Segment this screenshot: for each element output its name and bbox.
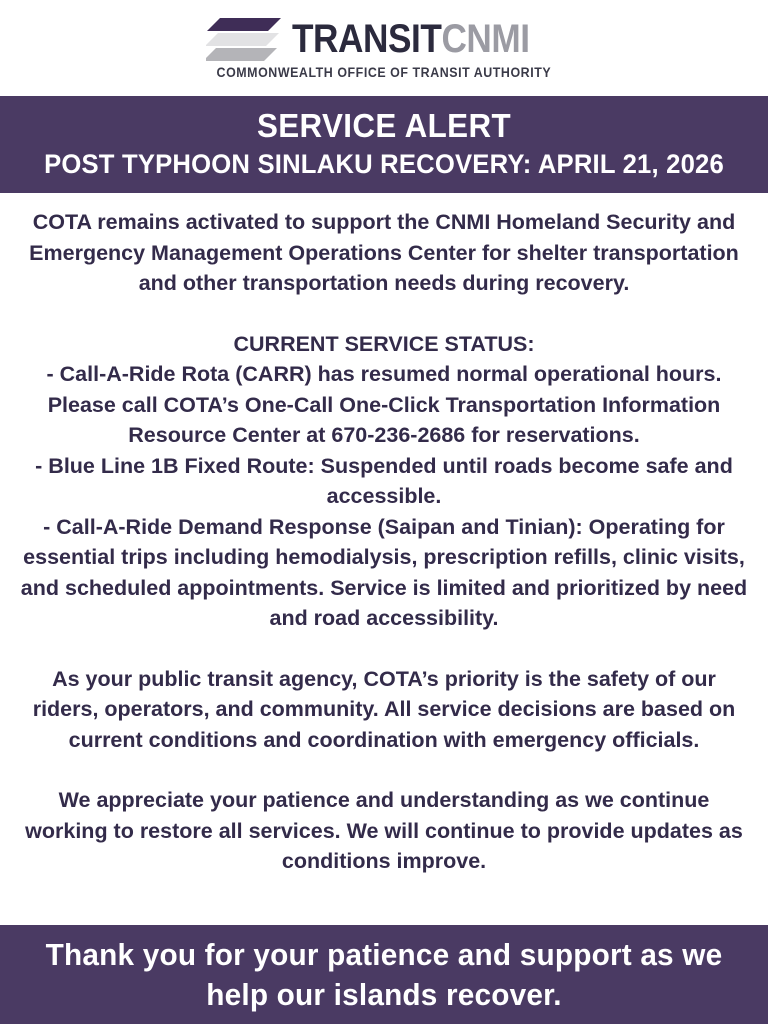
footer-message: Thank you for your patience and support …: [15, 935, 752, 1015]
logo-header: TRANSITCNMI COMMONWEALTH OFFICE OF TRANS…: [0, 0, 768, 96]
logo-wordmark-cnmi: CNMI: [441, 17, 529, 61]
stacked-parallelograms-icon: [206, 16, 282, 62]
body-content: COTA remains activated to support the CN…: [0, 193, 768, 925]
intro-paragraph: COTA remains activated to support the CN…: [18, 207, 750, 299]
safety-paragraph: As your public transit agency, COTA’s pr…: [18, 664, 750, 756]
logo-lockup: TRANSITCNMI COMMONWEALTH OFFICE OF TRANS…: [202, 16, 566, 80]
status-heading: CURRENT SERVICE STATUS:: [18, 329, 750, 360]
status-item-blue-line: - Blue Line 1B Fixed Route: Suspended un…: [18, 451, 750, 512]
closing-paragraph: We appreciate your patience and understa…: [18, 785, 750, 877]
logo-wordmark: TRANSITCNMI: [292, 19, 530, 59]
alert-band: SERVICE ALERT POST TYPHOON SINLAKU RECOV…: [0, 96, 768, 193]
status-item-carr: - Call-A-Ride Rota (CARR) has resumed no…: [18, 359, 750, 451]
logo-tagline: COMMONWEALTH OFFICE OF TRANSIT AUTHORITY: [217, 65, 552, 80]
alert-subtitle: POST TYPHOON SINLAKU RECOVERY: APRIL 21,…: [19, 146, 749, 182]
footer-band: Thank you for your patience and support …: [0, 925, 768, 1024]
alert-title: SERVICE ALERT: [19, 105, 749, 146]
service-status-block: CURRENT SERVICE STATUS: - Call-A-Ride Ro…: [18, 329, 750, 634]
status-item-demand-response: - Call-A-Ride Demand Response (Saipan an…: [18, 512, 750, 634]
logo-row: TRANSITCNMI: [206, 16, 562, 62]
logo-wordmark-transit: TRANSIT: [292, 17, 441, 61]
service-alert-flyer: TRANSITCNMI COMMONWEALTH OFFICE OF TRANS…: [0, 0, 768, 1024]
